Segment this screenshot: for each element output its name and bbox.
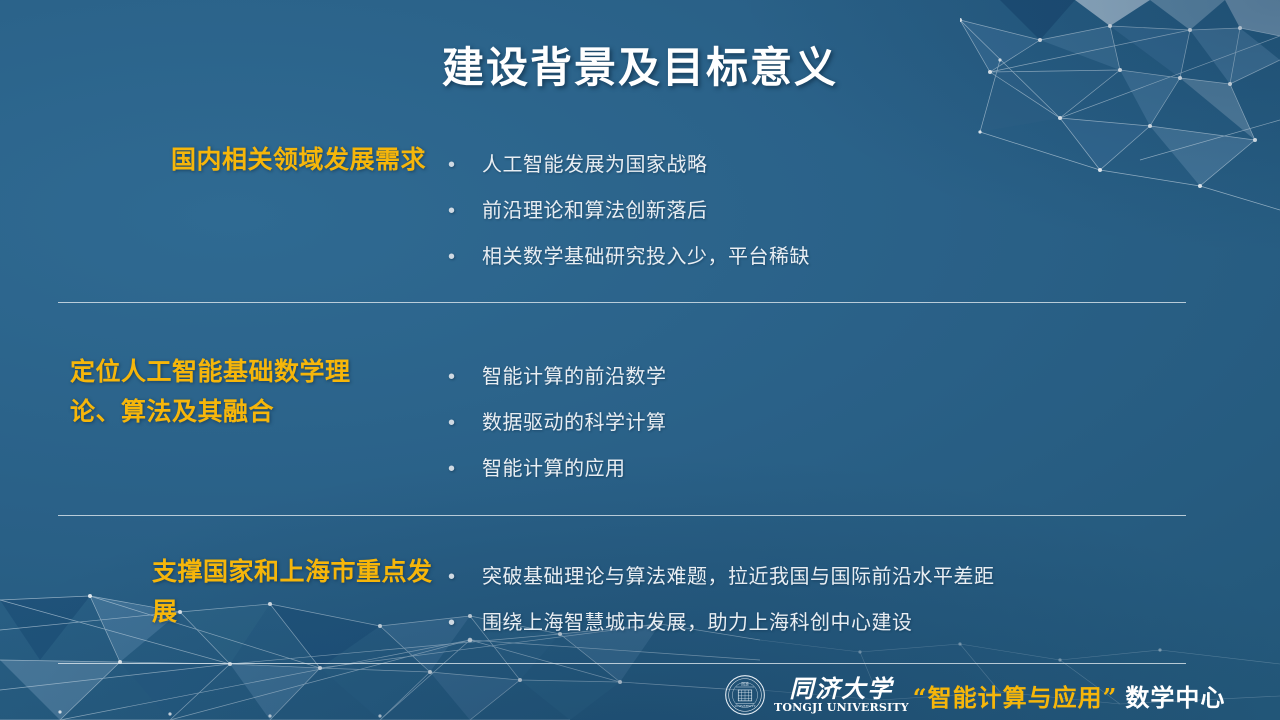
section-divider-2	[58, 515, 1186, 516]
slide-footer: 同濟 UNIVERSITY 同济大学 TONGJI UNIVERSITY “智能…	[724, 672, 1225, 718]
list-item: • 智能计算的前沿数学	[448, 354, 1186, 400]
list-item-text: 突破基础理论与算法难题，拉近我国与国际前沿水平差距	[482, 554, 1186, 600]
section-divider-1	[58, 302, 1186, 303]
section-row-2: 定位人工智能基础数学理 论、算法及其融合 • 智能计算的前沿数学 • 数据驱动的…	[58, 352, 1186, 492]
svg-text:同濟: 同濟	[741, 681, 749, 686]
section-row-3: 支撑国家和上海市重点发展 • 突破基础理论与算法难题，拉近我国与国际前沿水平差距…	[58, 552, 1186, 646]
tongji-university-seal-icon: 同濟 UNIVERSITY	[724, 674, 766, 716]
section-heading-2: 定位人工智能基础数学理 论、算法及其融合	[58, 352, 448, 432]
bullet-dot-icon: •	[448, 446, 482, 492]
list-item-text: 前沿理论和算法创新落后	[482, 188, 1186, 234]
list-item: • 前沿理论和算法创新落后	[448, 188, 1186, 234]
section-heading-1: 国内相关领域发展需求	[58, 140, 448, 180]
bullet-dot-icon: •	[448, 400, 482, 446]
section-heading-2-line-1: 定位人工智能基础数学理	[70, 352, 448, 392]
bullet-dot-icon: •	[448, 142, 482, 188]
section-bullets-2: • 智能计算的前沿数学 • 数据驱动的科学计算 • 智能计算的应用	[448, 352, 1186, 492]
list-item-text: 智能计算的应用	[482, 446, 1186, 492]
footer-divider	[58, 663, 1186, 664]
university-name-cn: 同济大学	[789, 676, 893, 701]
section-bullets-1: • 人工智能发展为国家战略 • 前沿理论和算法创新落后 • 相关数学基础研究投入…	[448, 140, 1186, 280]
list-item-text: 围绕上海智慧城市发展，助力上海科创中心建设	[482, 600, 1186, 646]
university-name-block: 同济大学 TONGJI UNIVERSITY	[774, 676, 909, 714]
section-heading-3: 支撑国家和上海市重点发展	[58, 552, 448, 632]
bullet-dot-icon: •	[448, 600, 482, 646]
list-item-text: 相关数学基础研究投入少，平台稀缺	[482, 234, 1186, 280]
section-heading-2-line-2: 论、算法及其融合	[70, 392, 448, 432]
list-item: • 人工智能发展为国家战略	[448, 142, 1186, 188]
list-item-text: 人工智能发展为国家战略	[482, 142, 1186, 188]
list-item: • 相关数学基础研究投入少，平台稀缺	[448, 234, 1186, 280]
list-item: • 围绕上海智慧城市发展，助力上海科创中心建设	[448, 600, 1186, 646]
bullet-dot-icon: •	[448, 554, 482, 600]
section-row-1: 国内相关领域发展需求 • 人工智能发展为国家战略 • 前沿理论和算法创新落后 •…	[58, 140, 1186, 280]
list-item-text: 智能计算的前沿数学	[482, 354, 1186, 400]
list-item: • 突破基础理论与算法难题，拉近我国与国际前沿水平差距	[448, 554, 1186, 600]
presentation-slide: 建设背景及目标意义 国内相关领域发展需求 • 人工智能发展为国家战略 • 前沿理…	[0, 0, 1280, 720]
bullet-dot-icon: •	[448, 188, 482, 234]
bullet-dot-icon: •	[448, 354, 482, 400]
page-title: 建设背景及目标意义	[0, 34, 1280, 95]
list-item: • 数据驱动的科学计算	[448, 400, 1186, 446]
section-bullets-3: • 突破基础理论与算法难题，拉近我国与国际前沿水平差距 • 围绕上海智慧城市发展…	[448, 552, 1186, 646]
list-item: • 智能计算的应用	[448, 446, 1186, 492]
center-name-suffix: 数学中心	[1125, 678, 1225, 713]
section-heading-3-line-1: 支撑国家和上海市重点发展	[152, 552, 448, 632]
svg-text:UNIVERSITY: UNIVERSITY	[734, 704, 756, 708]
list-item-text: 数据驱动的科学计算	[482, 400, 1186, 446]
university-name-en: TONGJI UNIVERSITY	[774, 701, 909, 714]
section-heading-1-line-1: 国内相关领域发展需求	[58, 140, 426, 180]
center-name-quoted: “智能计算与应用”	[913, 678, 1118, 713]
bullet-dot-icon: •	[448, 234, 482, 280]
